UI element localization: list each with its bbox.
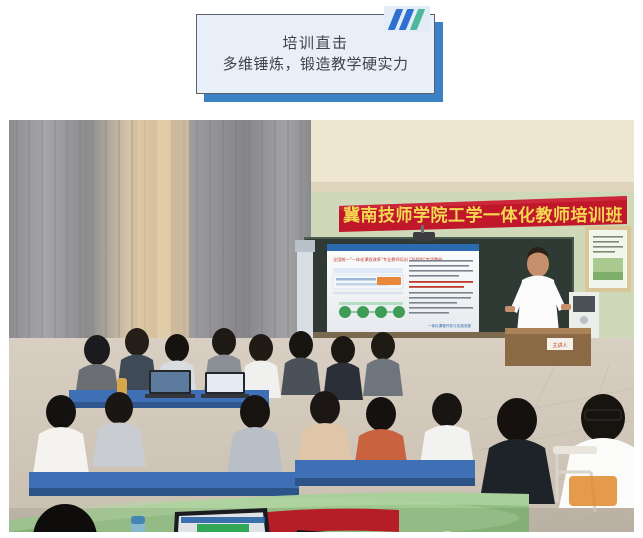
- card-title: 培训直击: [282, 36, 348, 51]
- svg-text:一体化课程开发与实施流程: 一体化课程开发与实施流程: [428, 323, 472, 328]
- training-photo: 冀南技师学院工学一体化教师培训班 全国统一"一体化课程改革"专业教师培训 "双师…: [9, 120, 634, 532]
- page-root: 培训直击 多维锤炼，锻造教学硬实力: [0, 0, 643, 538]
- header-zone: 培训直击 多维锤炼，锻造教学硬实力: [0, 0, 643, 118]
- svg-text:主讲人: 主讲人: [552, 342, 567, 349]
- double-slash-decoration-icon: [384, 6, 430, 32]
- card-subtitle: 多维锤炼，锻造教学硬实力: [222, 57, 408, 72]
- header-card: 培训直击 多维锤炼，锻造教学硬实力: [196, 14, 443, 102]
- photo-illustration: 冀南技师学院工学一体化教师培训班 全国统一"一体化课程改革"专业教师培训 "双师…: [9, 120, 634, 532]
- svg-text:全国统一"一体化课程改革"专业教师培训 "双师型"专项教研: 全国统一"一体化课程改革"专业教师培训 "双师型"专项教研: [333, 256, 443, 263]
- svg-text:冀南技师学院工学一体化教师培训班: 冀南技师学院工学一体化教师培训班: [343, 205, 623, 226]
